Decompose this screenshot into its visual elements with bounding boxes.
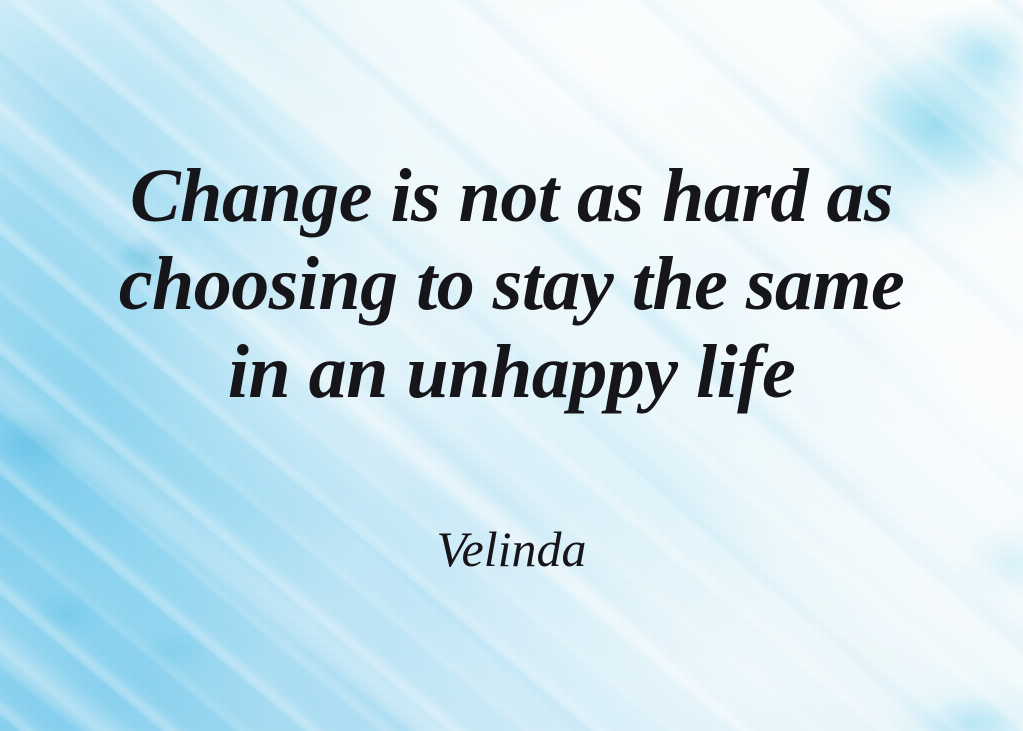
quote-text-block: Change is not as hard as choosing to sta… — [0, 152, 1023, 416]
quote-card: Change is not as hard as choosing to sta… — [0, 0, 1023, 731]
quote-line-1: Change is not as hard as — [0, 152, 1023, 240]
quote-line-2: choosing to stay the same — [0, 240, 1023, 328]
quote-author: Velinda — [0, 520, 1023, 578]
quote-line-3: in an unhappy life — [0, 328, 1023, 416]
card-content: Change is not as hard as choosing to sta… — [0, 0, 1023, 731]
